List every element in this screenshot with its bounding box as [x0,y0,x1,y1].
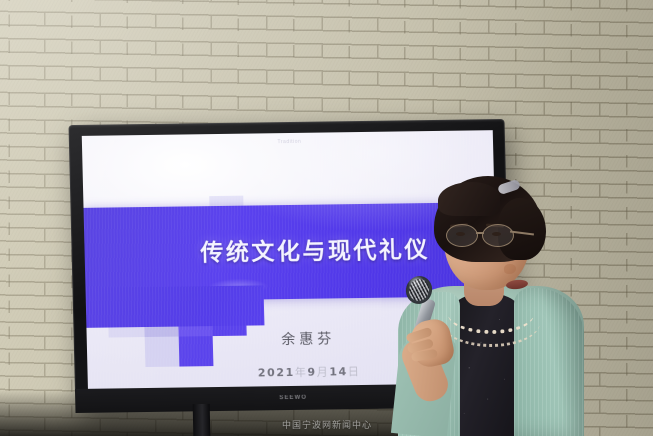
photo-scene: Tradition 传统文化与现代礼仪 余惠芬 2021年9月14日 SEEWO [0,0,653,436]
image-watermark: 中国宁波网新闻中心 [282,418,372,431]
slide-date-year-unit: 年 [295,366,308,379]
slide-date-year: 2021 [258,366,295,380]
slide-title-band-step [85,285,264,327]
microphone-grille [406,277,432,304]
slide-date-month-unit: 月 [317,365,330,378]
eyeglasses-icon [442,224,534,246]
slide-date-month: 9 [307,366,317,379]
eyeglass-bridge [476,232,484,234]
panel-brand-logo: SEEWO [279,395,307,401]
slide-date-day-unit: 日 [348,365,361,378]
slide-date-day: 14 [329,365,348,378]
pearl-necklace-inner [448,294,534,334]
person-eye-right [492,232,501,236]
person-nose [504,264,516,274]
slide-header-mark: Tradition [277,139,301,145]
panel-stand-column [193,404,211,436]
person-eye-left [456,232,465,236]
presenter-person [392,168,592,436]
person-hair-fringe [438,182,500,216]
